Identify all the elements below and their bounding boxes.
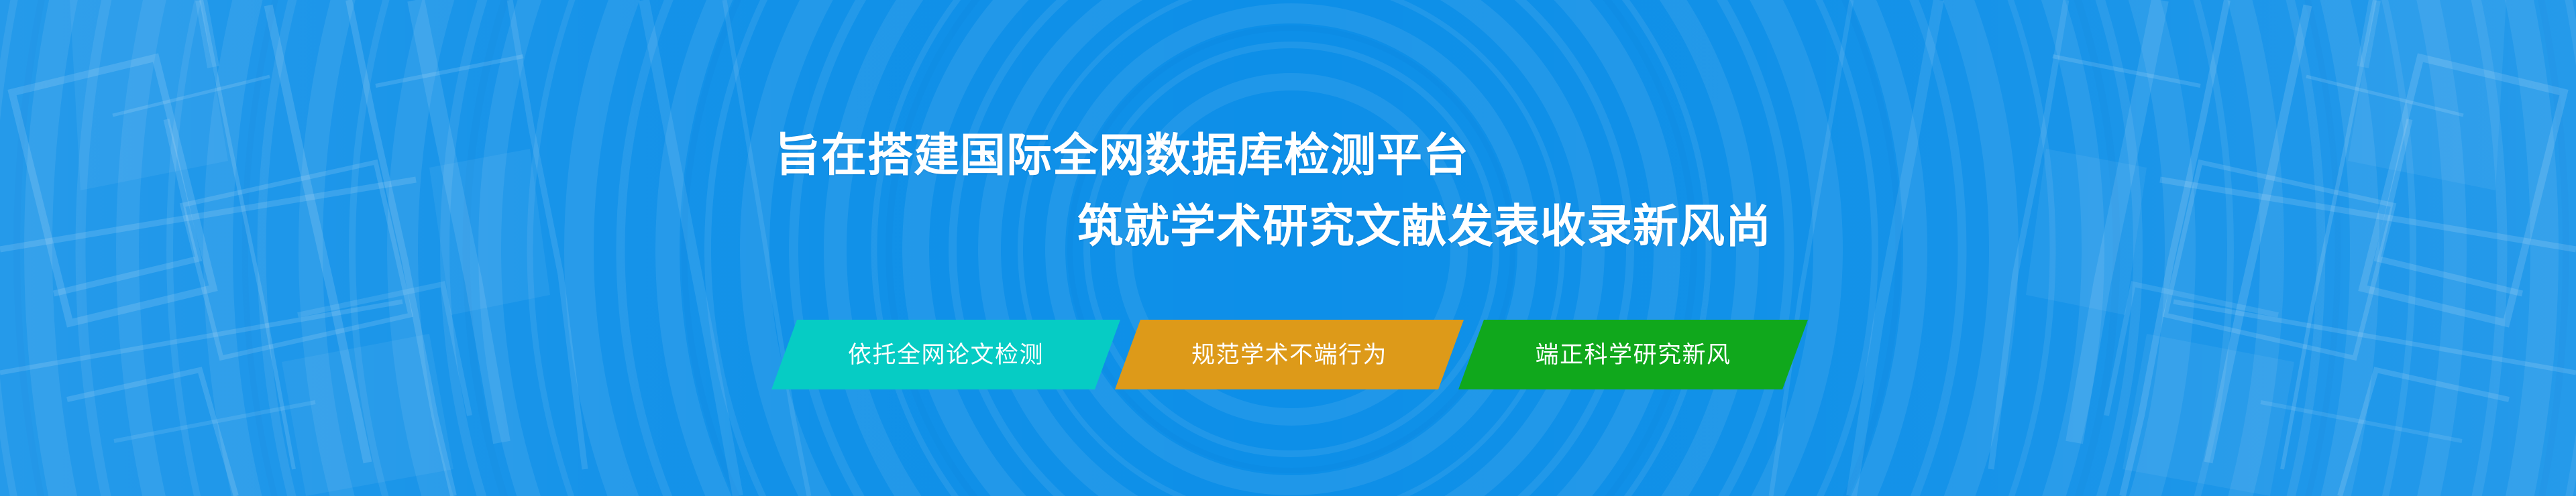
headline-line-1: 旨在搭建国际全网数据库检测平台 <box>775 133 1469 178</box>
tag-label-academic-misconduct: 规范学术不端行为 <box>1191 343 1387 367</box>
tag-plagiarism-detection[interactable]: 依托全网论文检测 <box>771 320 1120 389</box>
banner-content: 旨在搭建国际全网数据库检测平台 筑就学术研究文献发表收录新风尚 依托全网论文检测… <box>0 0 2576 496</box>
feature-tag-band: 依托全网论文检测 规范学术不端行为 端正科学研究新风 <box>771 320 1808 389</box>
tag-label-plagiarism-detection: 依托全网论文检测 <box>848 343 1044 367</box>
tag-research-ethics[interactable]: 端正科学研究新风 <box>1458 320 1808 389</box>
promotional-banner: 旨在搭建国际全网数据库检测平台 筑就学术研究文献发表收录新风尚 依托全网论文检测… <box>0 0 2576 496</box>
tag-label-research-ethics: 端正科学研究新风 <box>1535 343 1731 367</box>
tag-academic-misconduct[interactable]: 规范学术不端行为 <box>1115 320 1464 389</box>
headline-line-2: 筑就学术研究文献发表收录新风尚 <box>1077 204 1772 249</box>
